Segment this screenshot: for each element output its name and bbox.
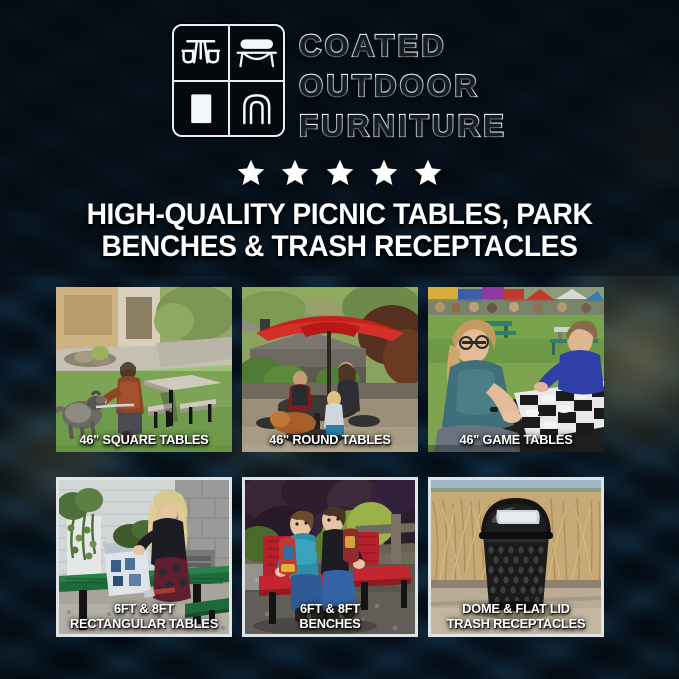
category-caption: 46" ROUND TABLES: [245, 433, 416, 448]
category-tile-trash-receptacles[interactable]: DOME & FLAT LID TRASH RECEPTACLES: [428, 477, 604, 637]
category-caption-line-2: RECTANGULAR TABLES: [65, 617, 222, 632]
category-tile-game-tables[interactable]: 46" GAME TABLES: [428, 287, 604, 452]
logo-line-coated: COATED: [299, 26, 507, 66]
rating-stars: [0, 158, 679, 187]
photo-square-tables: [56, 287, 232, 452]
category-tile-benches[interactable]: 6FT & 8FT BENCHES: [242, 477, 418, 637]
category-caption-line-1: 6FT & 8FT: [65, 602, 222, 617]
star-icon: [325, 158, 355, 187]
category-caption: 6FT & 8FT BENCHES: [248, 602, 413, 631]
category-caption-line-1: DOME & FLAT LID: [437, 602, 594, 617]
star-icon: [236, 158, 266, 187]
category-caption-line-1: 6FT & 8FT: [251, 602, 408, 617]
product-category-grid: 46" SQUARE TABLES: [56, 287, 624, 637]
headline-line-2: BENCHES & TRASH RECEPTACLES: [15, 231, 663, 263]
star-icon: [280, 158, 310, 187]
category-caption: 46" SQUARE TABLES: [59, 433, 230, 448]
logo-line-outdoor: OUTDOOR: [299, 66, 507, 106]
logo-icon-grid: [172, 24, 285, 137]
category-caption: 46" GAME TABLES: [431, 433, 602, 448]
category-caption: 6FT & 8FT RECTANGULAR TABLES: [62, 602, 227, 631]
trash-receptacle-icon: [174, 81, 229, 136]
picnic-table-icon: [174, 26, 229, 81]
category-tile-rectangular-tables[interactable]: 6FT & 8FT RECTANGULAR TABLES: [56, 477, 232, 637]
category-caption-line-2: BENCHES: [251, 617, 408, 632]
park-bench-icon: [229, 26, 284, 81]
category-tile-square-tables[interactable]: 46" SQUARE TABLES: [56, 287, 232, 452]
logo-line-furniture: FURNITURE: [299, 106, 507, 146]
bike-rack-icon: [229, 81, 284, 136]
brand-logo: COATED OUTDOOR FURNITURE: [0, 24, 679, 146]
photo-game-tables: [428, 287, 604, 452]
category-caption: DOME & FLAT LID TRASH RECEPTACLES: [434, 602, 599, 631]
category-caption-line-2: TRASH RECEPTACLES: [437, 617, 594, 632]
photo-round-tables: [242, 287, 418, 452]
category-tile-round-tables[interactable]: 46" ROUND TABLES: [242, 287, 418, 452]
star-icon: [369, 158, 399, 187]
headline-line-1: HIGH-QUALITY PICNIC TABLES, PARK: [15, 199, 663, 231]
page-headline: HIGH-QUALITY PICNIC TABLES, PARK BENCHES…: [15, 199, 663, 263]
star-icon: [413, 158, 443, 187]
logo-wordmark: COATED OUTDOOR FURNITURE: [299, 24, 507, 146]
